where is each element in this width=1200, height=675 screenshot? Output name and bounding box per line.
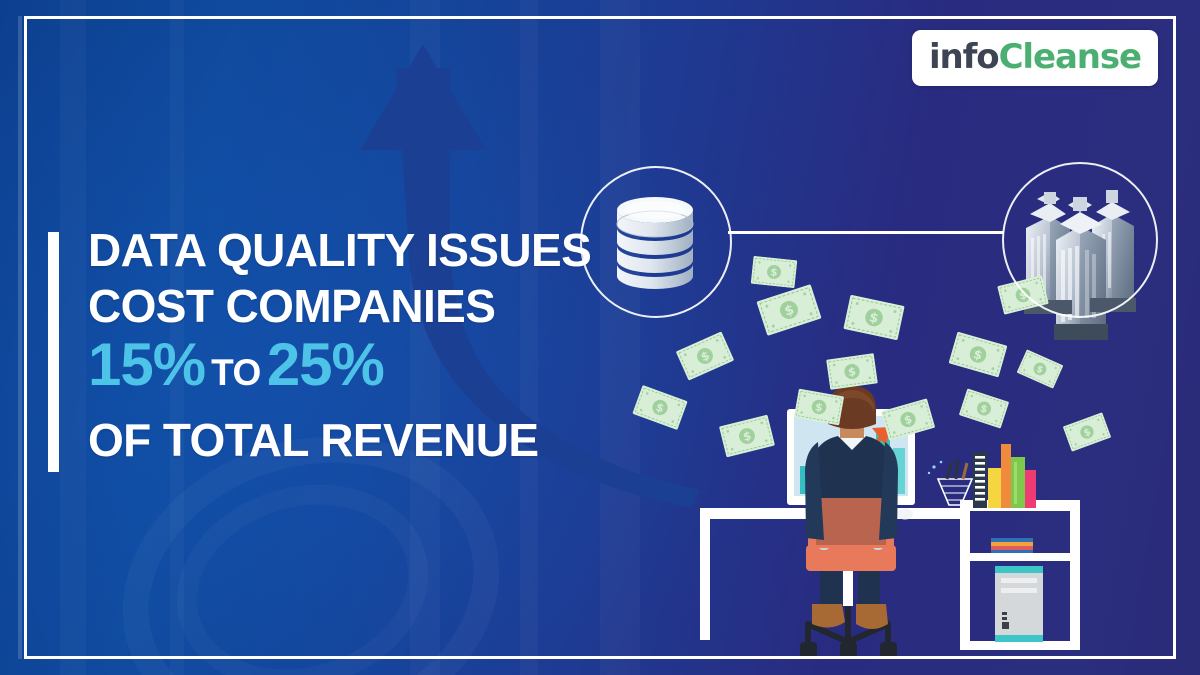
money-bill-icon: $: [794, 388, 845, 426]
money-bill-icon: $: [881, 398, 936, 441]
money-bill-icon: $: [751, 256, 798, 288]
headline-line-2: COST COMPANIES: [88, 278, 628, 334]
money-bill-icon: $: [1062, 412, 1111, 453]
money-bill-icon: $: [632, 385, 688, 431]
headline-accent-bar: [48, 232, 59, 472]
infocleanse-logo[interactable]: infoCleanse: [912, 30, 1158, 86]
logo-info-text: info: [929, 37, 999, 77]
stat-connector-word: TO: [205, 352, 267, 393]
money-bill-icon: $: [948, 331, 1007, 377]
money-bill-icon: $: [719, 414, 775, 457]
headline-stat-line: 15%TO25%: [88, 334, 628, 412]
money-bill-icon: $: [826, 353, 878, 390]
money-bill-icon: $: [756, 284, 822, 336]
svg-text:$: $: [770, 266, 778, 279]
logo-cleanse-text: Cleanse: [999, 37, 1141, 77]
stat-low-value: 15%: [88, 331, 205, 398]
node-connector-line: [728, 231, 1004, 234]
infographic-canvas: $$$$$$$$$$$$$$ DATA QUALITY ISSUES COST …: [0, 0, 1200, 675]
money-bill-icon: $: [959, 388, 1010, 429]
headline-line-4: OF TOTAL REVENUE: [88, 412, 628, 468]
buildings-node-circle[interactable]: [1002, 162, 1158, 318]
money-bill-icon: $: [843, 295, 905, 341]
money-bill-icon: $: [1016, 349, 1063, 389]
stat-high-value: 25%: [267, 331, 384, 398]
headline-block: DATA QUALITY ISSUES COST COMPANIES 15%TO…: [88, 222, 628, 468]
money-bill-icon: $: [676, 331, 735, 381]
headline-line-1: DATA QUALITY ISSUES: [88, 222, 628, 278]
